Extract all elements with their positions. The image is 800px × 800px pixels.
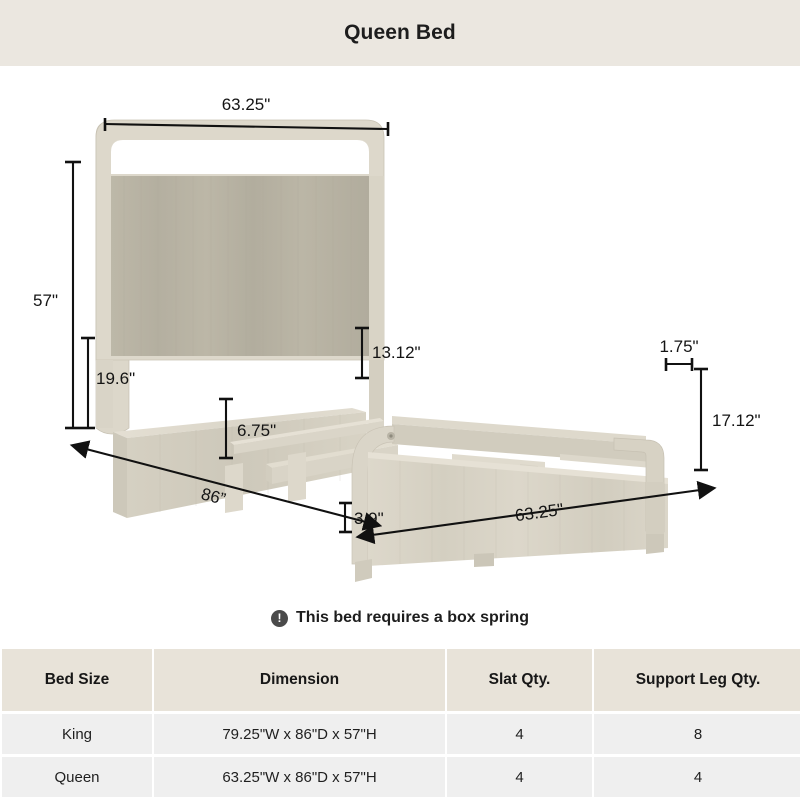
right-side-rail bbox=[392, 416, 646, 464]
dim-label-headboard-clearance: 19.6" bbox=[96, 369, 135, 388]
dim-footboard-post: 1.75" bbox=[659, 337, 698, 371]
cell-slat-qty: 4 bbox=[447, 714, 592, 754]
cell-bed-size: King bbox=[2, 714, 152, 754]
column-header-bed-size: Bed Size bbox=[2, 649, 152, 711]
column-header-dimension: Dimension bbox=[154, 649, 445, 711]
column-header-support-leg-qty: Support Leg Qty. bbox=[594, 649, 800, 711]
exclamation-circle-icon: ! bbox=[271, 610, 288, 627]
dim-footboard-height: 17.12" bbox=[694, 369, 761, 470]
dim-label-footboard-post: 1.75" bbox=[659, 337, 698, 356]
cell-dimension: 63.25"W x 86"D x 57"H bbox=[154, 757, 445, 797]
box-spring-notice: ! This bed requires a box spring bbox=[0, 596, 800, 640]
title-banner: Queen Bed bbox=[0, 0, 800, 66]
rail-bracket bbox=[387, 432, 395, 440]
dim-label-overall-height: 57" bbox=[33, 291, 58, 310]
diagram-svg: 63.25" 57" 19.6" bbox=[0, 66, 800, 586]
dim-label-headboard-width: 63.25" bbox=[222, 95, 271, 114]
dim-label-leg-height: 3.9" bbox=[354, 509, 384, 528]
cell-slat-qty: 4 bbox=[447, 757, 592, 797]
column-header-slat-qty: Slat Qty. bbox=[447, 649, 592, 711]
table-row: King 79.25"W x 86"D x 57"H 4 8 bbox=[2, 714, 800, 754]
table-row: Queen 63.25"W x 86"D x 57"H 4 4 bbox=[2, 757, 800, 797]
headboard-frame bbox=[96, 120, 385, 362]
dim-overall-height: 57" bbox=[33, 162, 81, 428]
dim-label-footboard-height: 17.12" bbox=[712, 411, 761, 430]
cell-support-leg-qty: 4 bbox=[594, 757, 800, 797]
bed-spec-table: Bed Size Dimension Slat Qty. Support Leg… bbox=[0, 646, 800, 800]
table-header-row: Bed Size Dimension Slat Qty. Support Leg… bbox=[2, 649, 800, 711]
exclamation-glyph: ! bbox=[278, 612, 282, 624]
dim-label-rail-height: 6.75" bbox=[237, 421, 276, 440]
page-title: Queen Bed bbox=[344, 21, 456, 45]
bed-dimension-diagram: 63.25" 57" 19.6" bbox=[0, 66, 800, 586]
cell-bed-size: Queen bbox=[2, 757, 152, 797]
cell-dimension: 79.25"W x 86"D x 57"H bbox=[154, 714, 445, 754]
product-dimension-sheet: Queen Bed bbox=[0, 0, 800, 800]
dim-label-side-rail-drop: 13.12" bbox=[372, 343, 421, 362]
box-spring-notice-text: This bed requires a box spring bbox=[296, 609, 529, 627]
cell-support-leg-qty: 8 bbox=[594, 714, 800, 754]
